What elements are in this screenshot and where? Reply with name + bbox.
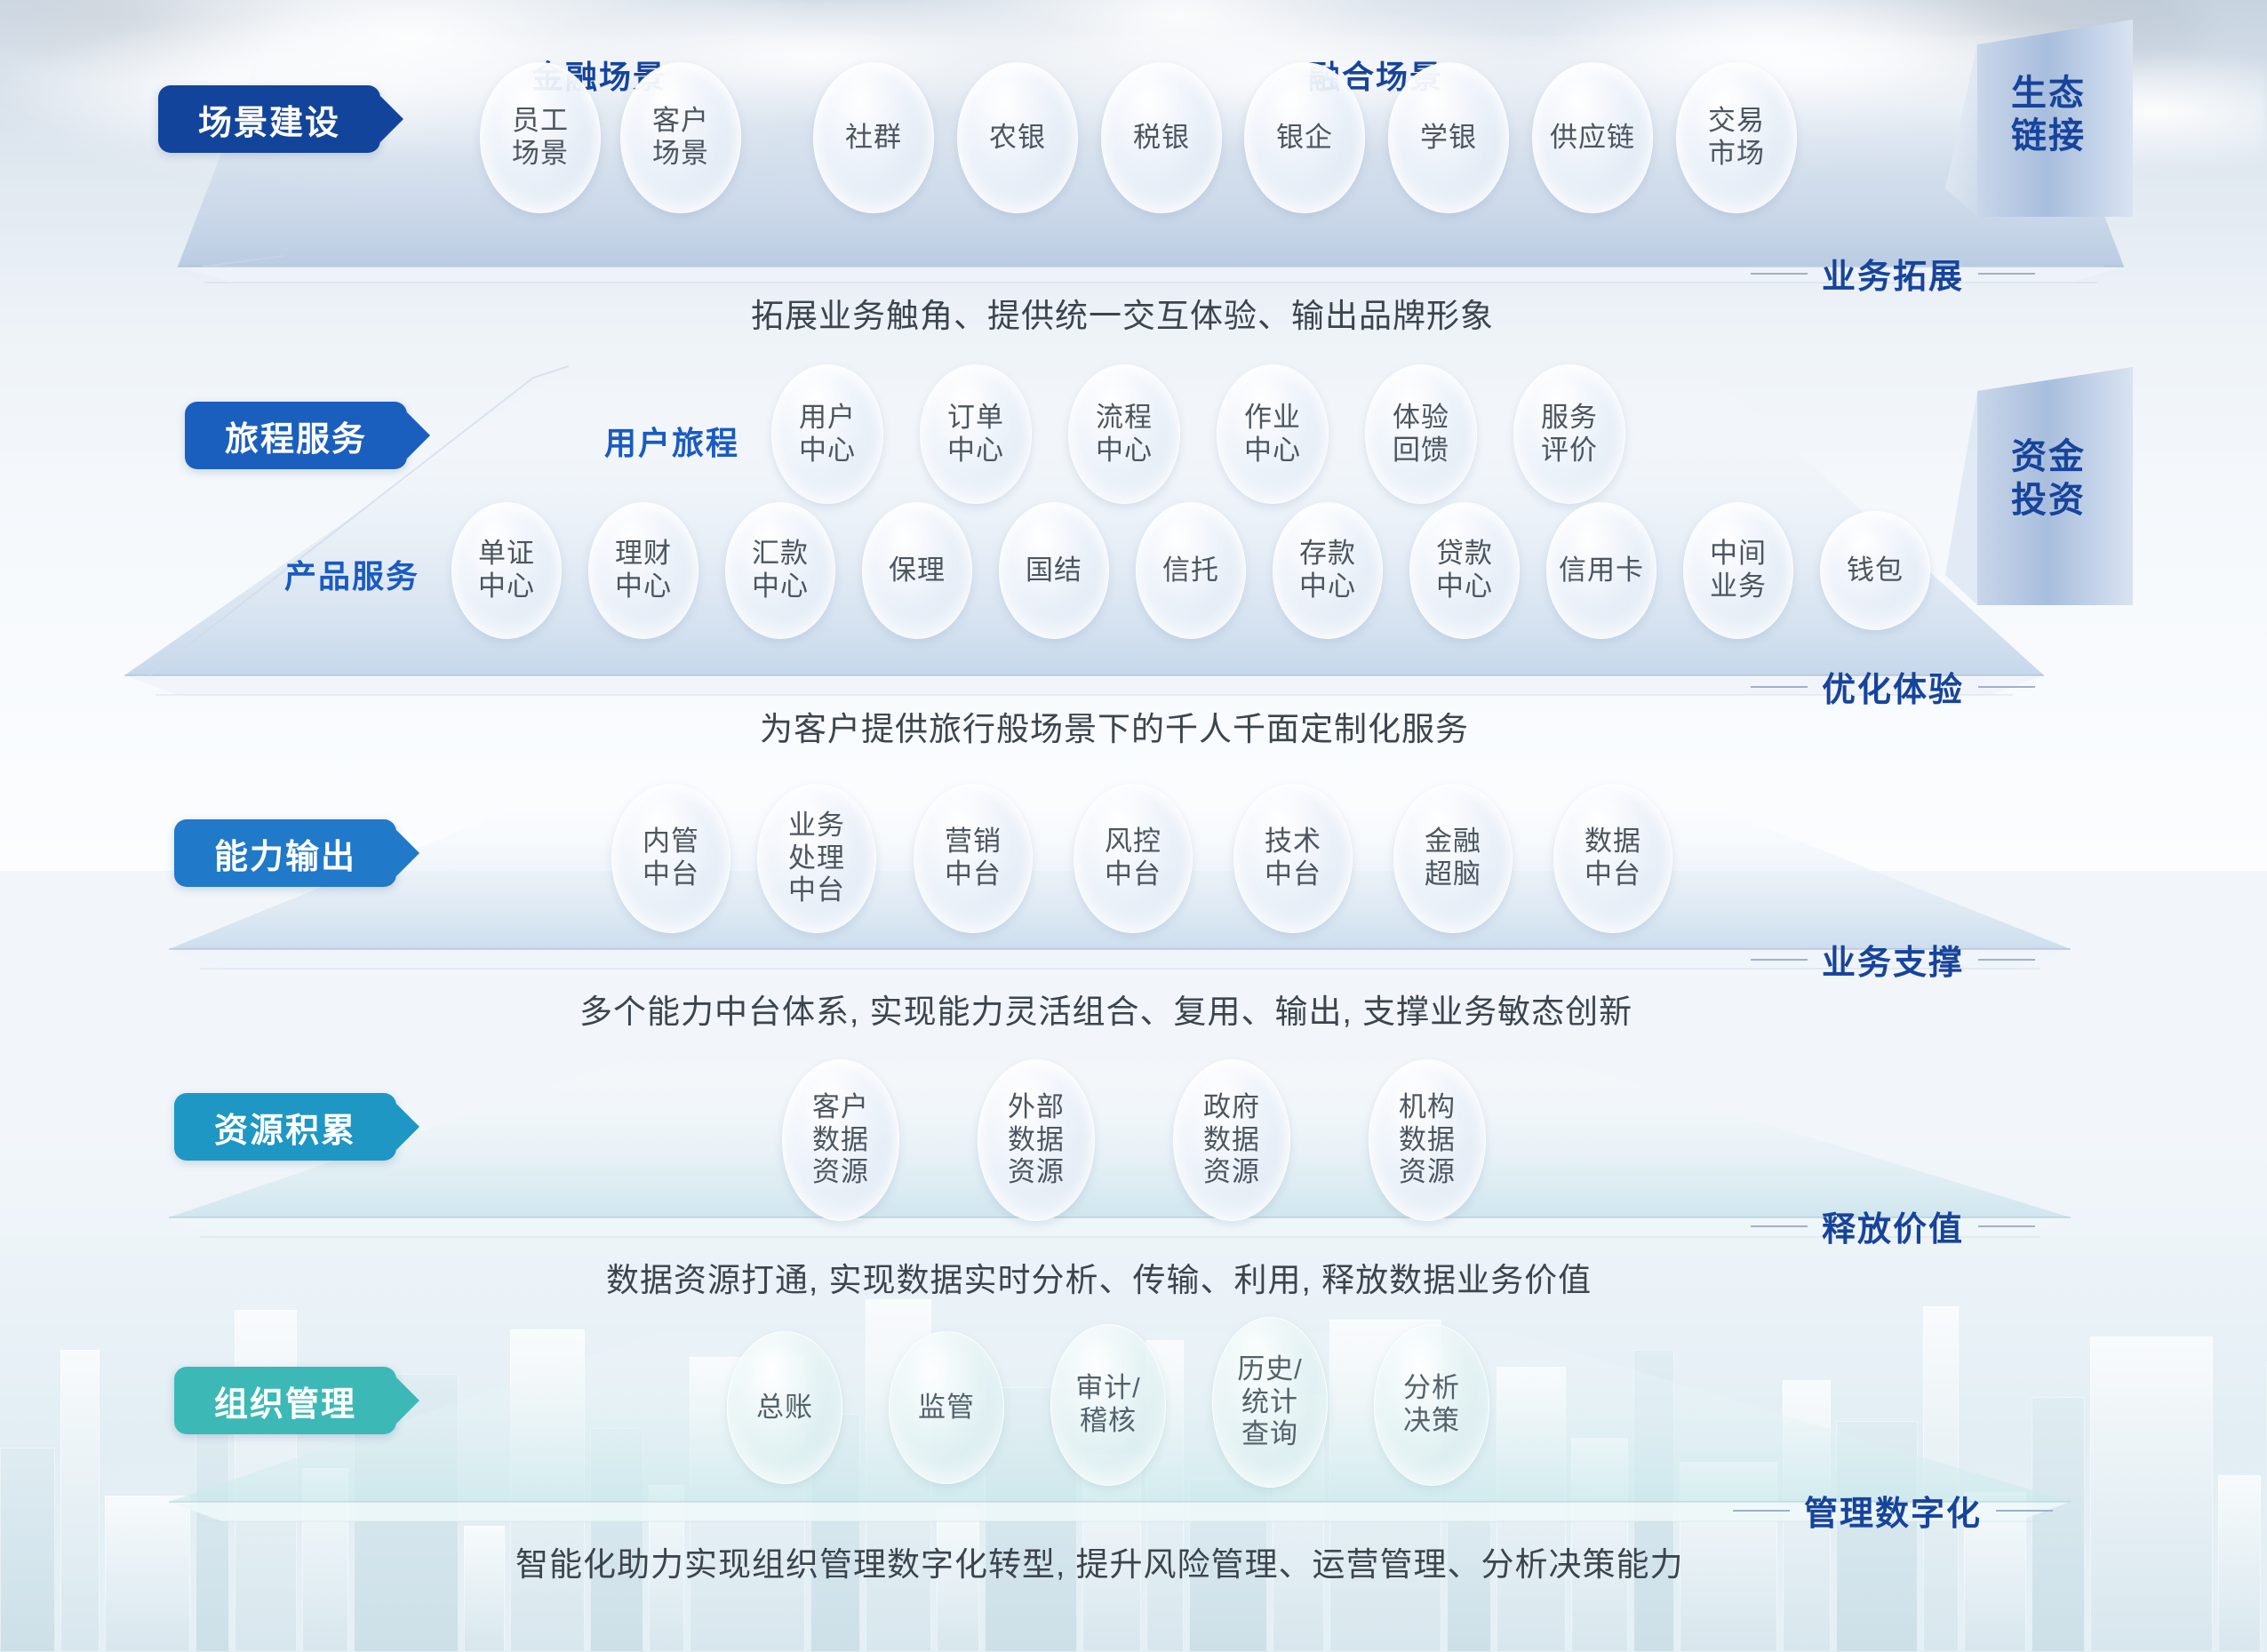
bubble-organization-2[interactable]: 审计/稽核 (1050, 1324, 1166, 1486)
bubble-capability-4[interactable]: 技术中台 (1233, 784, 1353, 933)
banner-fund: 资金投资 (1977, 391, 2119, 582)
bubble-scene-1[interactable]: 客户场景 (620, 62, 741, 213)
caption-resource: 数据资源打通, 实现数据实时分析、传输、利用, 释放数据业务价值 (606, 1253, 1592, 1301)
bubble-scene-7[interactable]: 供应链 (1532, 62, 1653, 213)
bubble-journey-3-label: 作业中心 (1244, 402, 1301, 467)
bubble-resource-1-label: 外部数据资源 (1008, 1091, 1065, 1189)
bubble-scene-4[interactable]: 税银 (1101, 62, 1222, 213)
bubble-scene-7-label: 供应链 (1550, 122, 1635, 155)
bubble-journey-1-label: 订单中心 (947, 402, 1004, 467)
bubble-journey-0-label: 用户中心 (799, 402, 856, 467)
tag-capability-label: 能力输出 (214, 829, 356, 878)
bubble-product-6-label: 存款中心 (1299, 538, 1356, 603)
keyword-organization-line-right (1996, 1510, 2053, 1512)
bubble-organization-2-label: 审计/稽核 (1075, 1372, 1141, 1437)
bubble-capability-0-label: 内管中台 (643, 826, 699, 890)
bubble-scene-3[interactable]: 农银 (957, 62, 1078, 213)
bubble-resource-2-label: 政府数据资源 (1203, 1091, 1260, 1189)
bubble-capability-1[interactable]: 业务处理中台 (757, 784, 876, 933)
caption-capability: 多个能力中台体系, 实现能力灵活组合、复用、输出, 支撑业务敏态创新 (579, 985, 1632, 1033)
tag-scene[interactable]: 场景建设 (158, 85, 380, 153)
bubble-scene-5[interactable]: 银企 (1244, 62, 1365, 213)
bubble-product-1[interactable]: 理财中心 (588, 502, 698, 639)
bubble-product-9[interactable]: 中间业务 (1683, 502, 1793, 639)
caption-organization: 智能化助力实现组织管理数字化转型, 提升风险管理、运营管理、分析决策能力 (515, 1537, 1684, 1585)
bubble-product-7[interactable]: 贷款中心 (1409, 502, 1520, 639)
bubble-product-10[interactable]: 钱包 (1820, 511, 1930, 630)
keyword-organization: 管理数字化 (1733, 1486, 2053, 1535)
rowlabel-product: 产品服务 (284, 551, 419, 597)
banner-fund-label: 资金投资 (1977, 435, 2119, 523)
tag-scene-label: 场景建设 (198, 95, 340, 144)
keyword-product: 优化体验 (1751, 662, 2035, 711)
tag-resource-arrow (396, 1104, 419, 1150)
bubble-capability-2[interactable]: 营销中台 (914, 784, 1033, 933)
bubble-organization-1-label: 监管 (918, 1392, 975, 1425)
bubble-resource-3[interactable]: 机构数据资源 (1369, 1059, 1486, 1221)
bubble-organization-3-label: 历史/统计查询 (1237, 1353, 1303, 1451)
bubble-scene-5-label: 银企 (1276, 122, 1333, 155)
bubble-product-9-label: 中间业务 (1710, 538, 1767, 603)
bubble-product-8[interactable]: 信用卡 (1546, 502, 1656, 639)
bubble-capability-5-label: 金融超脑 (1425, 826, 1481, 890)
keyword-scene-label: 业务拓展 (1808, 249, 1978, 298)
bubble-scene-3-label: 农银 (989, 122, 1046, 155)
bubble-product-7-label: 贷款中心 (1436, 538, 1493, 603)
bubble-scene-8[interactable]: 交易市场 (1676, 62, 1797, 213)
bubble-organization-4-label: 分析决策 (1403, 1372, 1460, 1437)
bubble-scene-8-label: 交易市场 (1708, 105, 1765, 170)
bubble-scene-0[interactable]: 员工场景 (480, 62, 601, 213)
caption-product: 为客户提供旅行般场景下的千人千面定制化服务 (760, 702, 1469, 750)
bubble-product-0-label: 单证中心 (478, 538, 535, 603)
bubble-capability-3-label: 风控中台 (1105, 826, 1161, 890)
bubble-resource-3-label: 机构数据资源 (1399, 1091, 1456, 1189)
bubble-journey-0[interactable]: 用户中心 (771, 364, 883, 504)
keyword-capability-label: 业务支撑 (1808, 935, 1978, 984)
keyword-resource-line-left (1751, 1225, 1808, 1227)
tag-capability-arrow (396, 830, 419, 876)
bubble-resource-2[interactable]: 政府数据资源 (1173, 1059, 1290, 1221)
bubble-journey-5-label: 服务评价 (1541, 402, 1598, 467)
keyword-resource: 释放价值 (1751, 1201, 2035, 1250)
bubble-capability-6-label: 数据中台 (1585, 826, 1641, 890)
caption-scene: 拓展业务触角、提供统一交互体验、输出品牌形象 (751, 289, 1494, 337)
tag-organization-arrow (396, 1377, 419, 1424)
banner-eco-label: 生态链接 (1977, 72, 2119, 159)
bubble-product-5[interactable]: 信托 (1136, 502, 1246, 639)
bubble-scene-0-label: 员工场景 (512, 105, 569, 170)
bubble-capability-5[interactable]: 金融超脑 (1393, 784, 1513, 933)
bubble-product-10-label: 钱包 (1847, 555, 1904, 587)
bubble-product-3-label: 保理 (889, 555, 946, 587)
bubble-scene-1-label: 客户场景 (652, 105, 709, 170)
bubble-resource-1[interactable]: 外部数据资源 (978, 1059, 1095, 1221)
bubble-capability-3[interactable]: 风控中台 (1074, 784, 1193, 933)
bubble-capability-1-label: 业务处理中台 (788, 810, 845, 907)
tag-capability[interactable]: 能力输出 (174, 819, 396, 887)
bubble-capability-0[interactable]: 内管中台 (611, 784, 730, 933)
bubble-journey-5[interactable]: 服务评价 (1513, 364, 1625, 504)
keyword-scene-line-left (1751, 273, 1808, 275)
bubble-capability-6[interactable]: 数据中台 (1553, 784, 1672, 933)
keyword-organization-label: 管理数字化 (1790, 1486, 1996, 1535)
keyword-capability-line-right (1978, 959, 2035, 961)
bubble-organization-4[interactable]: 分析决策 (1374, 1324, 1489, 1486)
bubble-journey-3[interactable]: 作业中心 (1217, 364, 1329, 504)
bubble-product-5-label: 信托 (1162, 555, 1219, 587)
bubble-product-0[interactable]: 单证中心 (451, 502, 562, 639)
tag-journey-arrow (407, 412, 430, 459)
bubble-organization-3[interactable]: 历史/统计查询 (1212, 1317, 1328, 1488)
bubble-organization-0[interactable]: 总账 (727, 1331, 842, 1484)
tag-journey-label: 旅程服务 (225, 411, 367, 460)
keyword-product-line-right (1978, 686, 2035, 688)
keyword-product-label: 优化体验 (1808, 662, 1978, 711)
tag-organization[interactable]: 组织管理 (174, 1367, 396, 1434)
rowlabel-journey: 用户旅程 (604, 418, 739, 464)
bubble-scene-6-label: 学银 (1420, 122, 1477, 155)
bubble-resource-0[interactable]: 客户数据资源 (782, 1059, 899, 1221)
keyword-scene: 业务拓展 (1751, 249, 2035, 298)
bubble-scene-2-label: 社群 (845, 122, 902, 155)
bubble-product-1-label: 理财中心 (615, 538, 672, 603)
bubble-product-3[interactable]: 保理 (862, 502, 972, 639)
bubble-product-6[interactable]: 存款中心 (1273, 502, 1383, 639)
bubble-journey-4-label: 体验回馈 (1393, 402, 1449, 467)
keyword-capability-line-left (1751, 959, 1808, 961)
bubble-product-4-label: 国结 (1026, 555, 1082, 587)
bubble-resource-0-label: 客户数据资源 (812, 1091, 869, 1189)
bubble-product-4[interactable]: 国结 (999, 502, 1109, 639)
bubble-scene-4-label: 税银 (1133, 122, 1190, 155)
keyword-scene-line-right (1978, 273, 2035, 275)
tag-journey[interactable]: 旅程服务 (185, 402, 407, 469)
bubble-journey-1[interactable]: 订单中心 (920, 364, 1032, 504)
keyword-organization-line-left (1733, 1510, 1790, 1512)
tag-resource-label: 资源积累 (214, 1103, 356, 1152)
bubble-scene-6[interactable]: 学银 (1388, 62, 1509, 213)
keyword-product-line-left (1751, 686, 1808, 688)
bubble-scene-2[interactable]: 社群 (813, 62, 934, 213)
keyword-resource-label: 释放价值 (1808, 1201, 1978, 1250)
bubble-capability-4-label: 技术中台 (1265, 826, 1321, 890)
tag-scene-arrow (380, 96, 403, 142)
bubble-product-2[interactable]: 汇款中心 (725, 502, 835, 639)
bubble-product-2-label: 汇款中心 (752, 538, 809, 603)
tag-organization-label: 组织管理 (214, 1377, 356, 1425)
bubble-organization-1[interactable]: 监管 (889, 1331, 1004, 1484)
bubble-organization-0-label: 总账 (756, 1392, 813, 1425)
bubble-product-8-label: 信用卡 (1559, 555, 1644, 587)
keyword-capability: 业务支撑 (1751, 935, 2035, 984)
keyword-resource-line-right (1978, 1225, 2035, 1227)
tag-resource[interactable]: 资源积累 (174, 1093, 396, 1161)
bubble-journey-2-label: 流程中心 (1096, 402, 1153, 467)
bubble-capability-2-label: 营销中台 (945, 826, 1002, 890)
banner-eco: 生态链接 (1977, 20, 2119, 211)
bubble-journey-4[interactable]: 体验回馈 (1365, 364, 1477, 504)
bubble-journey-2[interactable]: 流程中心 (1068, 364, 1180, 504)
